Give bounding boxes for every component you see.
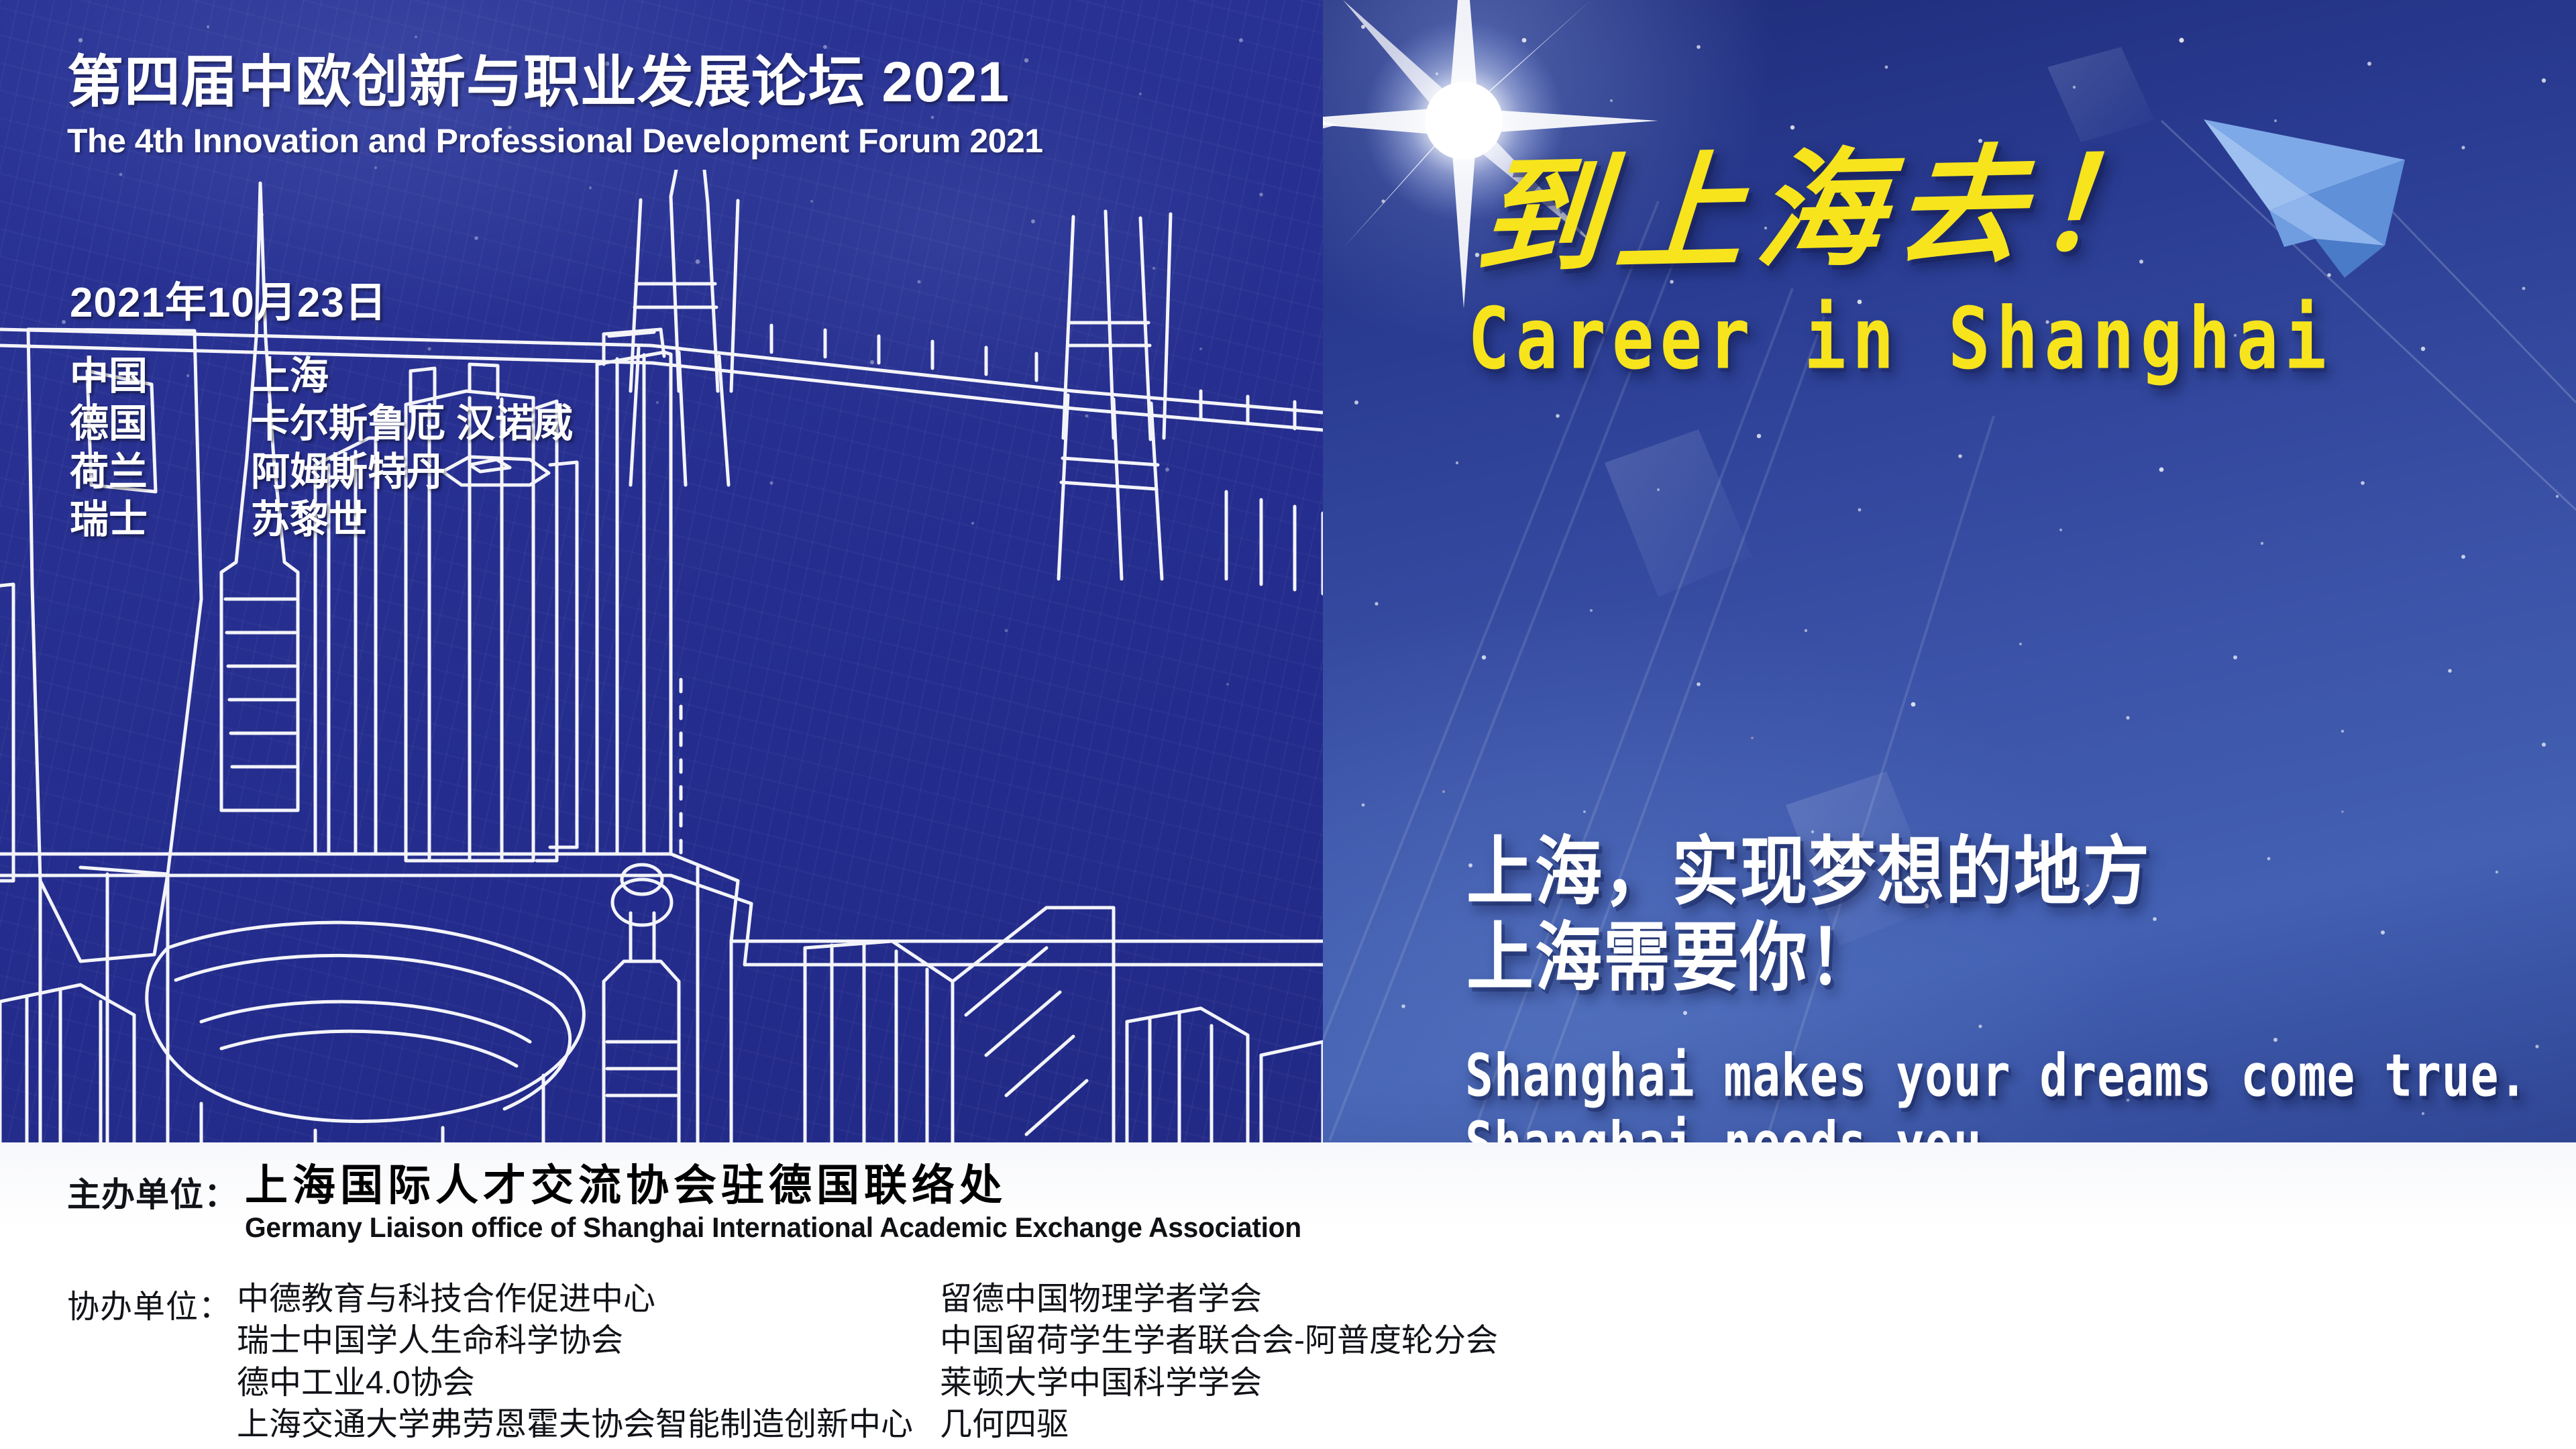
slogan-cn-block: 上海，实现梦想的地方 上海需要你！ <box>1466 824 2151 996</box>
co-organizer-item: 莱顿大学中国科学学会 <box>940 1362 1498 1404</box>
host-organizer-label: 主办单位： <box>67 1164 238 1216</box>
venue-list: 中国 上海 德国 卡尔斯鲁厄 汉诺威 荷兰 阿姆斯特丹 瑞士 苏黎世 <box>70 352 573 543</box>
forum-title-cn: 第四届中欧创新与职业发展论坛 2021 <box>67 52 1114 112</box>
co-organizer-column-left: 中德教育与科技合作促进中心 瑞士中国学人生命科学协会 德中工业4.0协会 上海交… <box>237 1279 940 1446</box>
venue-city: 上海 <box>251 352 573 400</box>
poster-canvas: 第四届中欧创新与职业发展论坛 2021 The 4th Innovation a… <box>0 0 2576 1449</box>
host-organizer-row: 主办单位： 上海国际人才交流协会驻德国联络处 Germany Liaison o… <box>67 1164 1334 1244</box>
co-organizer-item: 几何四驱 <box>940 1404 1498 1446</box>
venue-city: 阿姆斯特丹 <box>251 448 573 496</box>
slogan-cn-line-1: 上海，实现梦想的地方 <box>1466 824 2151 920</box>
forum-title-en: The 4th Innovation and Professional Deve… <box>67 123 1114 159</box>
venue-row: 德国 卡尔斯鲁厄 汉诺威 <box>70 400 573 447</box>
left-panel: 第四届中欧创新与职业发展论坛 2021 The 4th Innovation a… <box>0 0 1323 1142</box>
co-organizer-row: 协办单位： 中德教育与科技合作促进中心 瑞士中国学人生命科学协会 德中工业4.0… <box>67 1279 1498 1446</box>
venue-country: 瑞士 <box>70 496 251 543</box>
slogan-en-block: Shanghai makes your dreams come true. Sh… <box>1465 1036 2576 1142</box>
co-organizer-item: 中德教育与科技合作促进中心 <box>237 1279 940 1320</box>
event-date: 2021年10月23日 <box>70 268 387 329</box>
slogan-cn-line-2: 上海需要你！ <box>1466 910 2151 1006</box>
host-organizer-en: Germany Liaison office of Shanghai Inter… <box>245 1212 1301 1244</box>
slogan-en-line-2: Shanghai needs you. <box>1465 1104 2528 1142</box>
headline-en: Career in Shanghai <box>1468 288 2332 388</box>
co-organizer-label: 协办单位： <box>67 1279 231 1327</box>
host-organizer-names: 上海国际人才交流协会驻德国联络处 Germany Liaison office … <box>245 1164 1334 1244</box>
venue-country: 荷兰 <box>70 448 251 496</box>
paper-plane-icon <box>2184 79 2452 280</box>
co-organizer-item: 留德中国物理学者学会 <box>940 1279 1498 1320</box>
co-organizer-item: 瑞士中国学人生命科学协会 <box>237 1320 940 1362</box>
calligraphy-headline-cn: 到上海去！ <box>1472 139 2180 281</box>
host-organizer-cn: 上海国际人才交流协会驻德国联络处 <box>245 1164 1334 1207</box>
venue-country: 中国 <box>70 352 251 400</box>
venue-row: 荷兰 阿姆斯特丹 <box>70 448 573 496</box>
co-organizer-item: 德中工业4.0协会 <box>237 1362 940 1404</box>
footer-credits: 主办单位： 上海国际人才交流协会驻德国联络处 Germany Liaison o… <box>0 1142 2576 1449</box>
venue-country: 德国 <box>70 400 251 447</box>
co-organizer-columns: 中德教育与科技合作促进中心 瑞士中国学人生命科学协会 德中工业4.0协会 上海交… <box>237 1279 1498 1446</box>
venue-city: 卡尔斯鲁厄 汉诺威 <box>251 400 573 447</box>
co-organizer-item: 上海交通大学弗劳恩霍夫协会智能制造创新中心 <box>237 1404 940 1446</box>
venue-row: 瑞士 苏黎世 <box>70 496 573 543</box>
venue-city: 苏黎世 <box>251 496 573 543</box>
co-organizer-column-right: 留德中国物理学者学会 中国留荷学生学者联合会-阿普度轮分会 莱顿大学中国科学学会… <box>940 1279 1498 1446</box>
venue-row: 中国 上海 <box>70 352 573 400</box>
co-organizer-item: 中国留荷学生学者联合会-阿普度轮分会 <box>940 1320 1498 1362</box>
title-block: 第四届中欧创新与职业发展论坛 2021 The 4th Innovation a… <box>67 52 1114 159</box>
right-panel: 到上海去！ Career in Shanghai 上海，实现梦想的地方 上海需要… <box>1323 0 2576 1142</box>
